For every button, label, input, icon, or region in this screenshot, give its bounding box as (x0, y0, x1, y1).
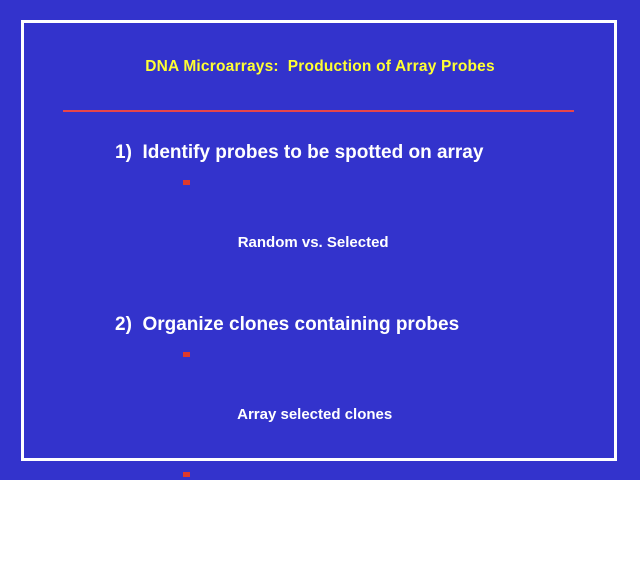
sub-bullet-label: Array selected clones (237, 406, 392, 423)
sub-bullet-item: Sequence verify clones (0, 460, 640, 580)
sub-bullet-item: Array selected clones (0, 340, 640, 460)
square-bullet-icon (183, 472, 190, 477)
square-bullet-icon (183, 180, 190, 185)
sub-bullet-item: Random vs. Selected (0, 168, 640, 288)
numbered-item-1: 1) Identify probes to be spotted on arra… (0, 140, 640, 166)
sub-bullet-list-2: Array selected clones Sequence verify cl… (0, 340, 640, 580)
sub-bullet-label: Sequence verify clones (238, 526, 405, 543)
list-group-1: 1) Identify probes to be spotted on arra… (0, 140, 640, 288)
slide-body-list: 1) Identify probes to be spotted on arra… (0, 140, 640, 580)
sub-bullet-label: Random vs. Selected (238, 234, 389, 251)
list-group-2: 2) Organize clones containing probes Arr… (0, 312, 640, 580)
presentation-slide: DNA Microarrays: Production of Array Pro… (0, 0, 640, 480)
numbered-item-2: 2) Organize clones containing probes (0, 312, 640, 338)
spacer (0, 288, 640, 312)
sub-bullet-list-1: Random vs. Selected (0, 168, 640, 288)
title-divider-rule (63, 110, 574, 112)
slide-title: DNA Microarrays: Production of Array Pro… (0, 58, 640, 76)
square-bullet-icon (183, 352, 190, 357)
